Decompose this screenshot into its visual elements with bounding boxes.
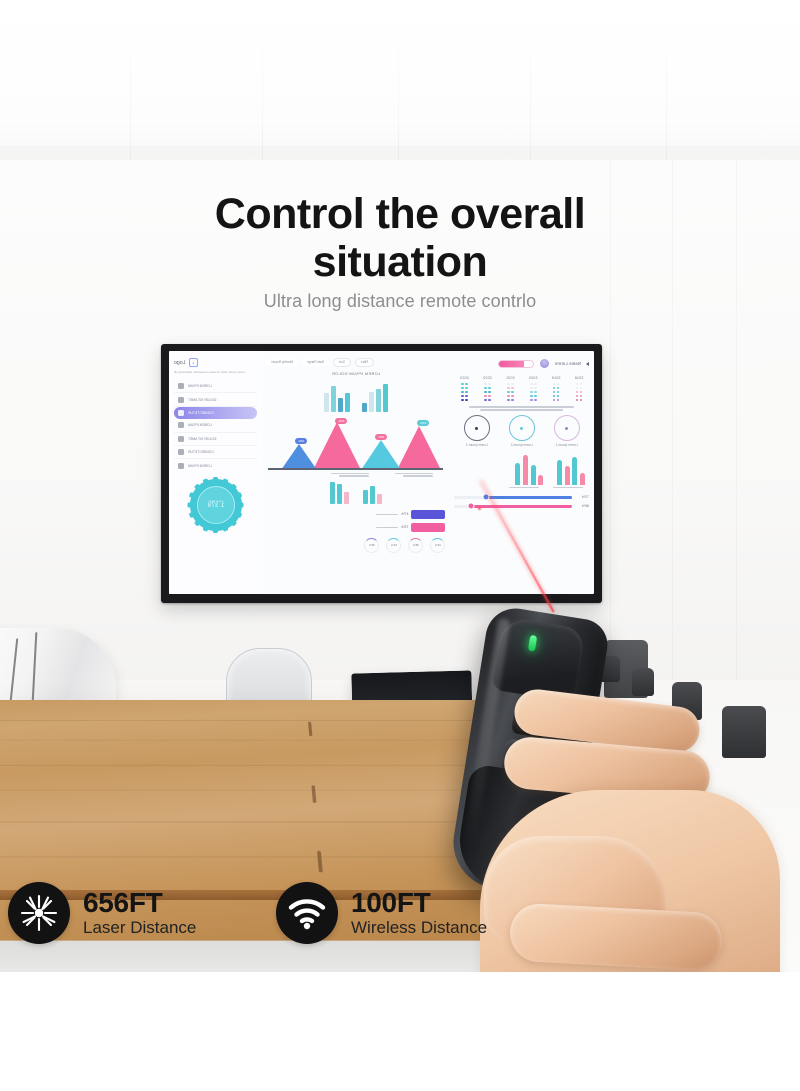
nav-label: DOLOR SIT AMET	[188, 437, 216, 441]
legend-value: 73%	[401, 525, 408, 529]
gear-gauge: Lorem Ipsum 1 378	[190, 479, 242, 531]
dot-matrix-chart: 2018 2019	[455, 376, 590, 401]
peak-tag: 28%	[375, 434, 387, 440]
dashboard-header: Name Lorem	[455, 358, 590, 369]
sidebar-item-2[interactable]: CONSECTETUR	[174, 407, 258, 419]
marketing-banner: Name Lorem 2018 2019	[0, 0, 800, 1091]
display-screen: Name Lorem 2018 2019	[169, 351, 594, 594]
grid-icon	[178, 383, 184, 389]
sidebar-item-1[interactable]: DOLOR SIT AMET	[174, 393, 258, 406]
dot-col-label: 2018	[575, 376, 584, 380]
dot-col-label: 2023	[460, 376, 469, 380]
dashboard-slide: Name Lorem 2018 2019	[169, 351, 594, 594]
dot-col-label: 2022	[483, 376, 492, 380]
clock-icon	[178, 422, 184, 428]
presentation-display[interactable]: Name Lorem 2018 2019	[161, 344, 602, 603]
legend-bars: 47% 73%	[267, 510, 446, 532]
gauge-value: 1 378	[207, 503, 224, 509]
chevron-down-icon	[586, 362, 589, 366]
logo-mark-icon: L	[189, 358, 198, 367]
sidebar-item-3[interactable]: LOREM IPSUM	[174, 419, 258, 432]
donut: 61%	[387, 538, 402, 553]
badge-label: Wireless Distance	[351, 918, 487, 938]
user-icon	[178, 410, 184, 416]
laser-burst-icon	[8, 882, 70, 944]
subtitle: Ultra long distance remote contrlo	[0, 291, 800, 312]
donut: 24%	[431, 538, 446, 553]
dot-col-label: 2021	[506, 376, 515, 380]
slider-value: 73%	[576, 495, 589, 499]
sidebar-item-0[interactable]: LOREM IPSUM	[174, 380, 258, 393]
headline-line-1: Control the overall	[0, 190, 800, 238]
headline-line-2: situation	[0, 238, 800, 286]
legend-value: 47%	[401, 512, 408, 516]
briefcase-icon	[178, 397, 184, 403]
donut-row: 24% 38% 61% 45%	[267, 538, 446, 553]
chart-title: LOREM IPSUM DOLOR	[267, 371, 446, 376]
nav-label: DOLOR SIT AMET	[188, 398, 216, 402]
badge-label: Laser Distance	[83, 918, 196, 938]
nav-label: LOREM IPSUM	[188, 384, 212, 388]
slider-value: 86%	[576, 504, 589, 508]
peak-tag: 56%	[335, 418, 347, 424]
key-icon	[178, 449, 184, 455]
ceiling	[0, 0, 800, 172]
filter-pill[interactable]: Date Range	[302, 359, 329, 366]
sidebar-item-5[interactable]: CONSECTETUR	[174, 446, 258, 459]
peak-tag: 19%	[295, 438, 307, 444]
mini-bar-charts	[267, 482, 446, 504]
filter-pill[interactable]: Sort	[333, 358, 351, 367]
slider-row[interactable]: 86%	[455, 504, 590, 508]
logo-text: Logo	[174, 360, 186, 366]
sidebar-item-6[interactable]: LOREM IPSUM	[174, 459, 258, 471]
bar-chart	[267, 380, 446, 412]
dashboard-mid-panel: Filter Sort Date Range Monthly Report LO…	[263, 351, 450, 594]
page-title: Control the overall situation	[0, 190, 800, 286]
feature-badges: 656FT Laser Distance 100FT Wireless Dist…	[0, 882, 800, 972]
ring-gauges: Lorem Ipsum 1 Lorem Ipsum 2 Lorem Ipsum …	[455, 415, 590, 447]
gear-icon	[178, 463, 184, 469]
badge-wireless-distance: 100FT Wireless Distance	[276, 882, 487, 944]
sidebar-item-4[interactable]: DOLOR SIT AMET	[174, 433, 258, 446]
ring-label: Lorem Ipsum 2	[509, 443, 535, 447]
nav-label: CONSECTETUR	[188, 450, 214, 454]
wifi-icon	[276, 882, 338, 944]
peak-tag: 42%	[417, 420, 429, 426]
filter-pill[interactable]: Filter	[355, 358, 374, 367]
badge-laser-distance: 656FT Laser Distance	[8, 882, 196, 944]
dashboard-sidebar: L Logo Lorem ipsum dolor sit amet consec…	[169, 351, 263, 594]
rounded-bar-chart	[455, 455, 590, 485]
ring-label: Lorem Ipsum 3	[464, 443, 490, 447]
chart-icon	[178, 436, 184, 442]
nav-label: CONSECTETUR	[188, 411, 214, 415]
sidebar-tagline: Lorem ipsum dolor sit amet consectetur a…	[174, 370, 258, 375]
avatar	[539, 358, 550, 369]
slider-row[interactable]: 73%	[455, 495, 590, 499]
bottom-white-space	[0, 972, 800, 1091]
filter-pill[interactable]: Monthly Report	[267, 359, 299, 366]
logo: L Logo	[174, 358, 258, 367]
nav-label: LOREM IPSUM	[188, 423, 212, 427]
donut: 38%	[409, 538, 424, 553]
badge-value: 656FT	[83, 888, 196, 917]
donut: 45%	[365, 538, 380, 553]
area-peaks-chart: 42% 28% 56% 19%	[267, 418, 446, 470]
conference-room-scene: Name Lorem 2018 2019	[0, 0, 800, 975]
ring-label: Lorem Ipsum 1	[554, 443, 580, 447]
dot-col-label: 2019	[552, 376, 561, 380]
badge-value: 100FT	[351, 888, 487, 917]
toggle-switch[interactable]	[498, 360, 534, 368]
nav-label: LOREM IPSUM	[188, 464, 212, 468]
menu-label: Name Lorem	[555, 361, 581, 366]
dashboard-left-panel: Name Lorem 2018 2019	[450, 351, 595, 594]
slider-group: 73% 86%	[455, 495, 590, 508]
filter-bar: Filter Sort Date Range Monthly Report	[267, 358, 446, 367]
dot-col-label: 2020	[529, 376, 538, 380]
